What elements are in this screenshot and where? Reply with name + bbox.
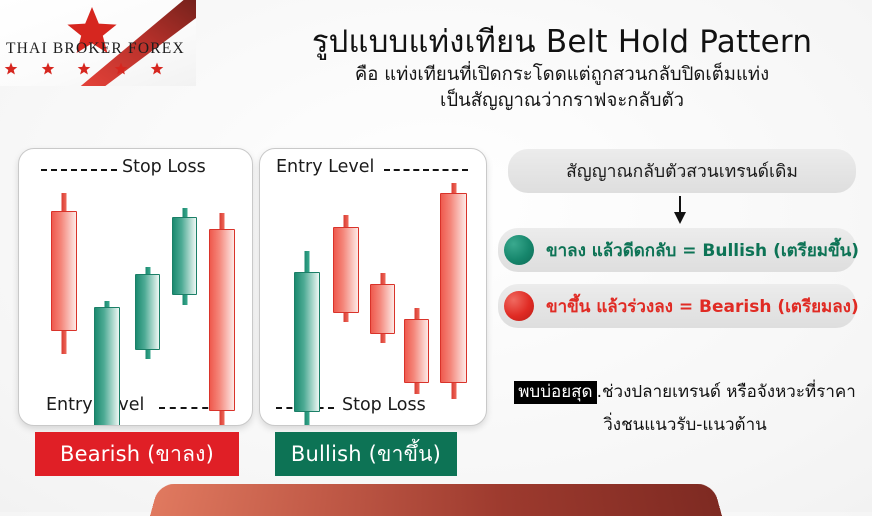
candlestick-chart-bearish: Stop Loss Entry Level [19, 149, 252, 425]
candle-red [440, 169, 467, 409]
candlestick-chart-bullish: Entry Level Stop Loss [260, 149, 486, 425]
bottom-bar [150, 484, 722, 516]
candle-red [51, 169, 77, 409]
candle-body [294, 272, 320, 412]
chart-card-bearish: Stop Loss Entry Level [18, 148, 253, 426]
chart-card-bullish: Entry Level Stop Loss [259, 148, 487, 426]
candle-red [370, 169, 395, 409]
logo-text: THAI BROKER FOREX [6, 40, 176, 58]
page-title: รูปแบบแท่งเทียน Belt Hold Pattern [252, 16, 872, 66]
red-circle-icon [504, 291, 534, 321]
candle-body [209, 229, 235, 411]
candle-body [51, 211, 77, 331]
candle-body [404, 319, 429, 383]
candle-body [135, 274, 160, 350]
entry-level-label: Entry Level [276, 157, 374, 177]
star-icon [77, 62, 91, 76]
star-icon [150, 62, 164, 76]
star-icon [41, 62, 55, 76]
note-line-2: วิ่งชนแนวรับ-แนวต้าน [498, 411, 872, 438]
candle-green [294, 169, 320, 409]
note-block: พบบ่อยสุด.ช่วงปลายเทรนด์ หรือจังหวะที่รา… [498, 378, 872, 438]
tag-bearish: Bearish (ขาลง) [35, 432, 239, 476]
signal-pill-bullish: ขาลง แล้วดีดกลับ = Bullish (เตรียมขึ้น) [498, 228, 856, 272]
candle-body [172, 217, 197, 295]
headline-pill: สัญญาณกลับตัวสวนเทรนด์เดิม [508, 149, 856, 193]
star-icon [4, 62, 18, 76]
candle-green [135, 169, 160, 409]
tag-bullish: Bullish (ขาขึ้น) [275, 432, 457, 476]
headline-text: สัญญาณกลับตัวสวนเทรนด์เดิม [508, 149, 856, 193]
subtitle-line-2: เป็นสัญญาณว่ากราฟจะกลับตัว [252, 88, 872, 114]
arrow-down-icon [672, 196, 688, 224]
star-icon [114, 62, 128, 76]
candle-red [209, 169, 235, 409]
candle-body [370, 284, 395, 334]
candle-green [172, 169, 197, 409]
note-line-1-rest: .ช่วงปลายเทรนด์ หรือจังหวะที่ราคา [597, 382, 856, 402]
candle-red [333, 169, 359, 409]
note-line-1: พบบ่อยสุด.ช่วงปลายเทรนด์ หรือจังหวะที่รา… [498, 378, 872, 405]
note-highlight: พบบ่อยสุด [514, 381, 596, 404]
signal-text-bullish: ขาลง แล้วดีดกลับ = Bullish (เตรียมขึ้น) [546, 228, 859, 272]
candle-green [94, 169, 120, 409]
logo: THAI BROKER FOREX [0, 0, 196, 86]
candle-body [94, 307, 120, 425]
green-circle-icon [504, 235, 534, 265]
candle-body [440, 193, 467, 383]
subtitle-line-1: คือ แท่งเทียนที่เปิดกระโดดแต่ถูกสวนกลับป… [252, 62, 872, 88]
candle-body [333, 227, 359, 313]
page-subtitle: คือ แท่งเทียนที่เปิดกระโดดแต่ถูกสวนกลับป… [252, 62, 872, 115]
candle-red [404, 169, 429, 409]
signal-text-bearish: ขาขึ้น แล้วร่วงลง = Bearish (เตรียมลง) [546, 284, 859, 328]
signal-pill-bearish: ขาขึ้น แล้วร่วงลง = Bearish (เตรียมลง) [498, 284, 856, 328]
logo-small-stars [4, 62, 164, 76]
